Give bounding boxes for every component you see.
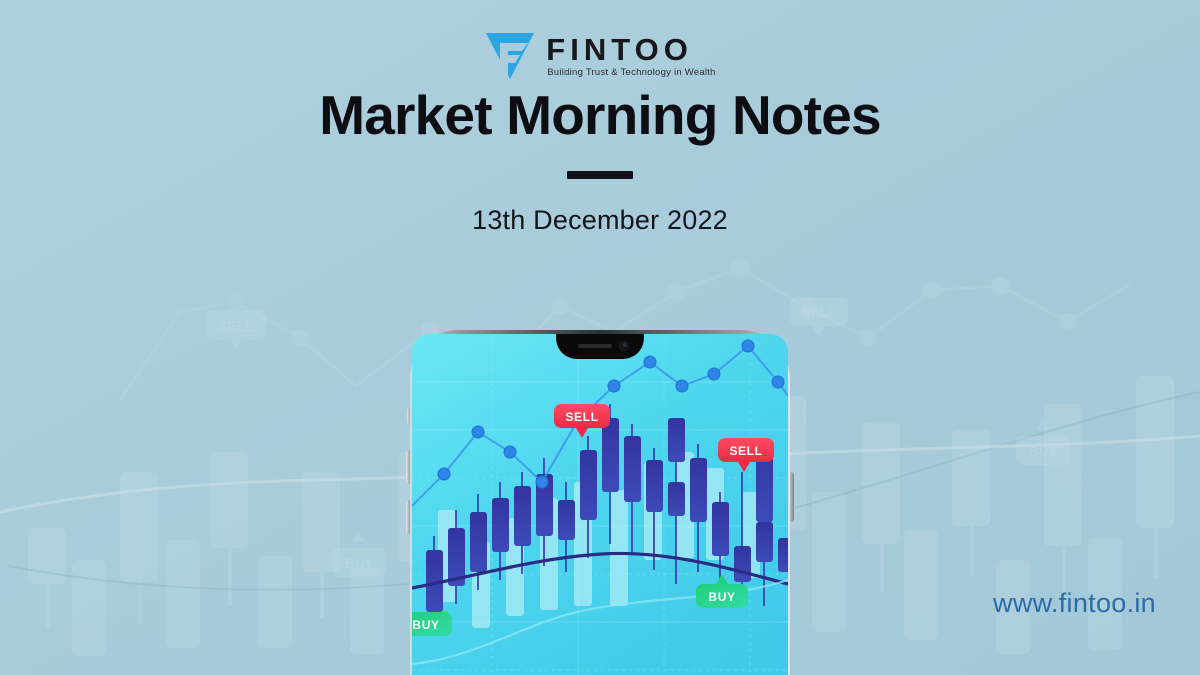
title-divider xyxy=(567,171,633,179)
header: FINTOO Building Trust & Technology in We… xyxy=(0,0,1200,236)
svg-text:BUY: BUY xyxy=(1029,444,1058,459)
brand-logo: FINTOO Building Trust & Technology in We… xyxy=(0,0,1200,62)
page-date: 13th December 2022 xyxy=(0,205,1200,236)
brand-tagline: Building Trust & Technology in Wealth xyxy=(547,67,715,78)
svg-text:SELL: SELL xyxy=(729,444,762,458)
svg-text:BUY: BUY xyxy=(345,556,374,571)
svg-text:SELL: SELL xyxy=(802,305,837,320)
svg-text:BUY: BUY xyxy=(412,618,439,632)
screen-badge-buy-2[interactable]: BUY xyxy=(406,612,452,636)
brand-name: FINTOO xyxy=(546,34,693,66)
speaker-grille-icon xyxy=(578,344,612,348)
fintoo-triangle-f-logo-icon xyxy=(484,31,536,81)
brand-wordmark: FINTOO Building Trust & Technology in We… xyxy=(546,34,715,79)
phone-notch xyxy=(556,334,644,359)
phone-screen[interactable]: SELL SELL BUY BUY xyxy=(406,334,794,675)
svg-text:SELL: SELL xyxy=(565,410,598,424)
svg-text:SELL: SELL xyxy=(218,318,254,334)
phone-mockup: SELL SELL BUY BUY xyxy=(406,322,794,675)
site-url[interactable]: www.fintoo.in xyxy=(993,588,1156,619)
svg-text:BUY: BUY xyxy=(708,590,735,604)
page-title: Market Morning Notes xyxy=(0,87,1200,145)
